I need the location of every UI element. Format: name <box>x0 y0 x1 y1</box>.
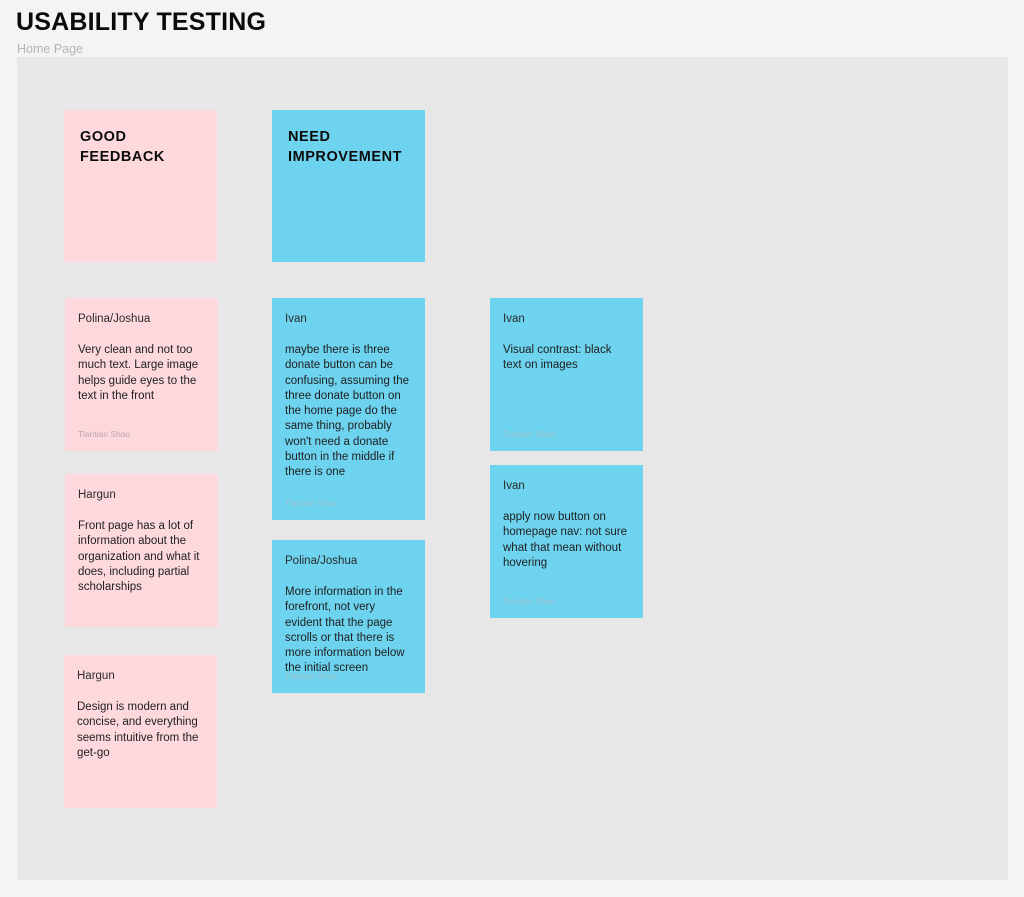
breadcrumb: Home Page <box>17 41 83 57</box>
note-author: Hargun <box>77 669 204 684</box>
sticky-note[interactable]: Polina/Joshua More information in the fo… <box>272 540 425 693</box>
note-body: Very clean and not too much text. Large … <box>78 343 205 404</box>
note-body: apply now button on homepage nav: not su… <box>503 510 630 571</box>
note-credit: Tiantian Shao <box>285 498 337 509</box>
category-title-good-feedback: GOOD FEEDBACK <box>80 128 201 167</box>
note-author: Hargun <box>78 488 205 503</box>
page-title: USABILITY TESTING <box>16 7 266 37</box>
category-card-good-feedback[interactable]: GOOD FEEDBACK <box>64 110 217 262</box>
note-credit: Tiantian Shao <box>78 429 130 440</box>
note-body: More information in the forefront, not v… <box>285 585 412 677</box>
category-title-need-improvement: NEED IMPROVEMENT <box>288 128 409 167</box>
note-body: Visual contrast: black text on images <box>503 343 630 374</box>
note-author: Ivan <box>285 312 412 327</box>
note-credit: Tiantian Shao <box>503 429 555 440</box>
board-canvas[interactable]: GOOD FEEDBACK NEED IMPROVEMENT Polina/Jo… <box>17 57 1008 880</box>
sticky-note[interactable]: Polina/Joshua Very clean and not too muc… <box>65 298 218 451</box>
sticky-note[interactable]: Ivan maybe there is three donate button … <box>272 298 425 520</box>
page-header: USABILITY TESTING Home Page <box>0 0 1024 57</box>
sticky-note[interactable]: Hargun Design is modern and concise, and… <box>64 655 217 808</box>
sticky-note[interactable]: Ivan Visual contrast: black text on imag… <box>490 298 643 451</box>
sticky-note[interactable]: Hargun Front page has a lot of informati… <box>65 474 218 627</box>
note-author: Ivan <box>503 312 630 327</box>
note-body: maybe there is three donate button can b… <box>285 343 412 481</box>
note-author: Polina/Joshua <box>78 312 205 327</box>
sticky-note[interactable]: Ivan apply now button on homepage nav: n… <box>490 465 643 618</box>
note-credit: Tiantian Shao <box>503 596 555 607</box>
note-body: Design is modern and concise, and everyt… <box>77 700 204 761</box>
note-body: Front page has a lot of information abou… <box>78 519 205 595</box>
category-card-need-improvement[interactable]: NEED IMPROVEMENT <box>272 110 425 262</box>
note-author: Polina/Joshua <box>285 554 412 569</box>
note-author: Ivan <box>503 479 630 494</box>
